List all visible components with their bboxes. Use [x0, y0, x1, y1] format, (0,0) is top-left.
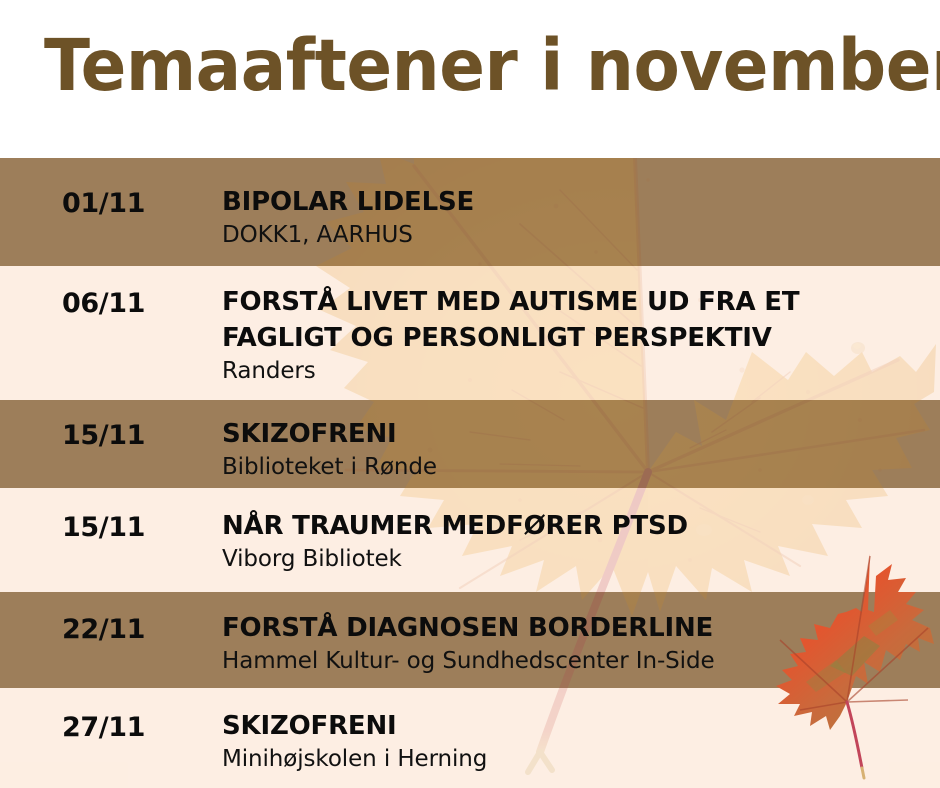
event-title: FORSTÅ LIVET MED AUTISME UD FRA ET: [222, 284, 922, 320]
event-venue: Viborg Bibliotek: [222, 544, 922, 575]
list-item[interactable]: 27/11 SKIZOFRENI Minihøjskolen i Herning: [0, 688, 940, 788]
event-date: 15/11: [62, 420, 145, 451]
event-title: NÅR TRAUMER MEDFØRER PTSD: [222, 508, 922, 544]
event-date: 01/11: [62, 188, 145, 219]
event-title: FORSTÅ DIAGNOSEN BORDERLINE: [222, 610, 922, 646]
list-item[interactable]: 15/11 SKIZOFRENI Biblioteket i Rønde: [0, 400, 940, 488]
event-date: 22/11: [62, 614, 145, 645]
event-venue: Minihøjskolen i Herning: [222, 744, 922, 775]
poster-canvas: Temaaftener i november 01/11 BIPOLAR LID…: [0, 0, 940, 788]
event-venue: Hammel Kultur- og Sundhedscenter In-Side: [222, 646, 922, 677]
event-date: 15/11: [62, 512, 145, 543]
event-venue: DOKK1, AARHUS: [222, 220, 922, 251]
list-item[interactable]: 15/11 NÅR TRAUMER MEDFØRER PTSD Viborg B…: [0, 488, 940, 592]
event-date: 27/11: [62, 712, 145, 743]
event-title: BIPOLAR LIDELSE: [222, 184, 922, 220]
event-title: SKIZOFRENI: [222, 708, 922, 744]
list-item[interactable]: 22/11 FORSTÅ DIAGNOSEN BORDERLINE Hammel…: [0, 592, 940, 688]
event-title: SKIZOFRENI: [222, 416, 922, 452]
list-item[interactable]: 06/11 FORSTÅ LIVET MED AUTISME UD FRA ET…: [0, 266, 940, 400]
event-venue: Biblioteket i Rønde: [222, 452, 922, 483]
event-venue: Randers: [222, 356, 922, 387]
list-item[interactable]: 01/11 BIPOLAR LIDELSE DOKK1, AARHUS: [0, 158, 940, 266]
title-banner: Temaaftener i november: [0, 0, 940, 158]
event-date: 06/11: [62, 288, 145, 319]
event-title-line2: FAGLIGT OG PERSONLIGT PERSPEKTIV: [222, 320, 922, 356]
page-title: Temaaftener i november: [44, 24, 940, 108]
